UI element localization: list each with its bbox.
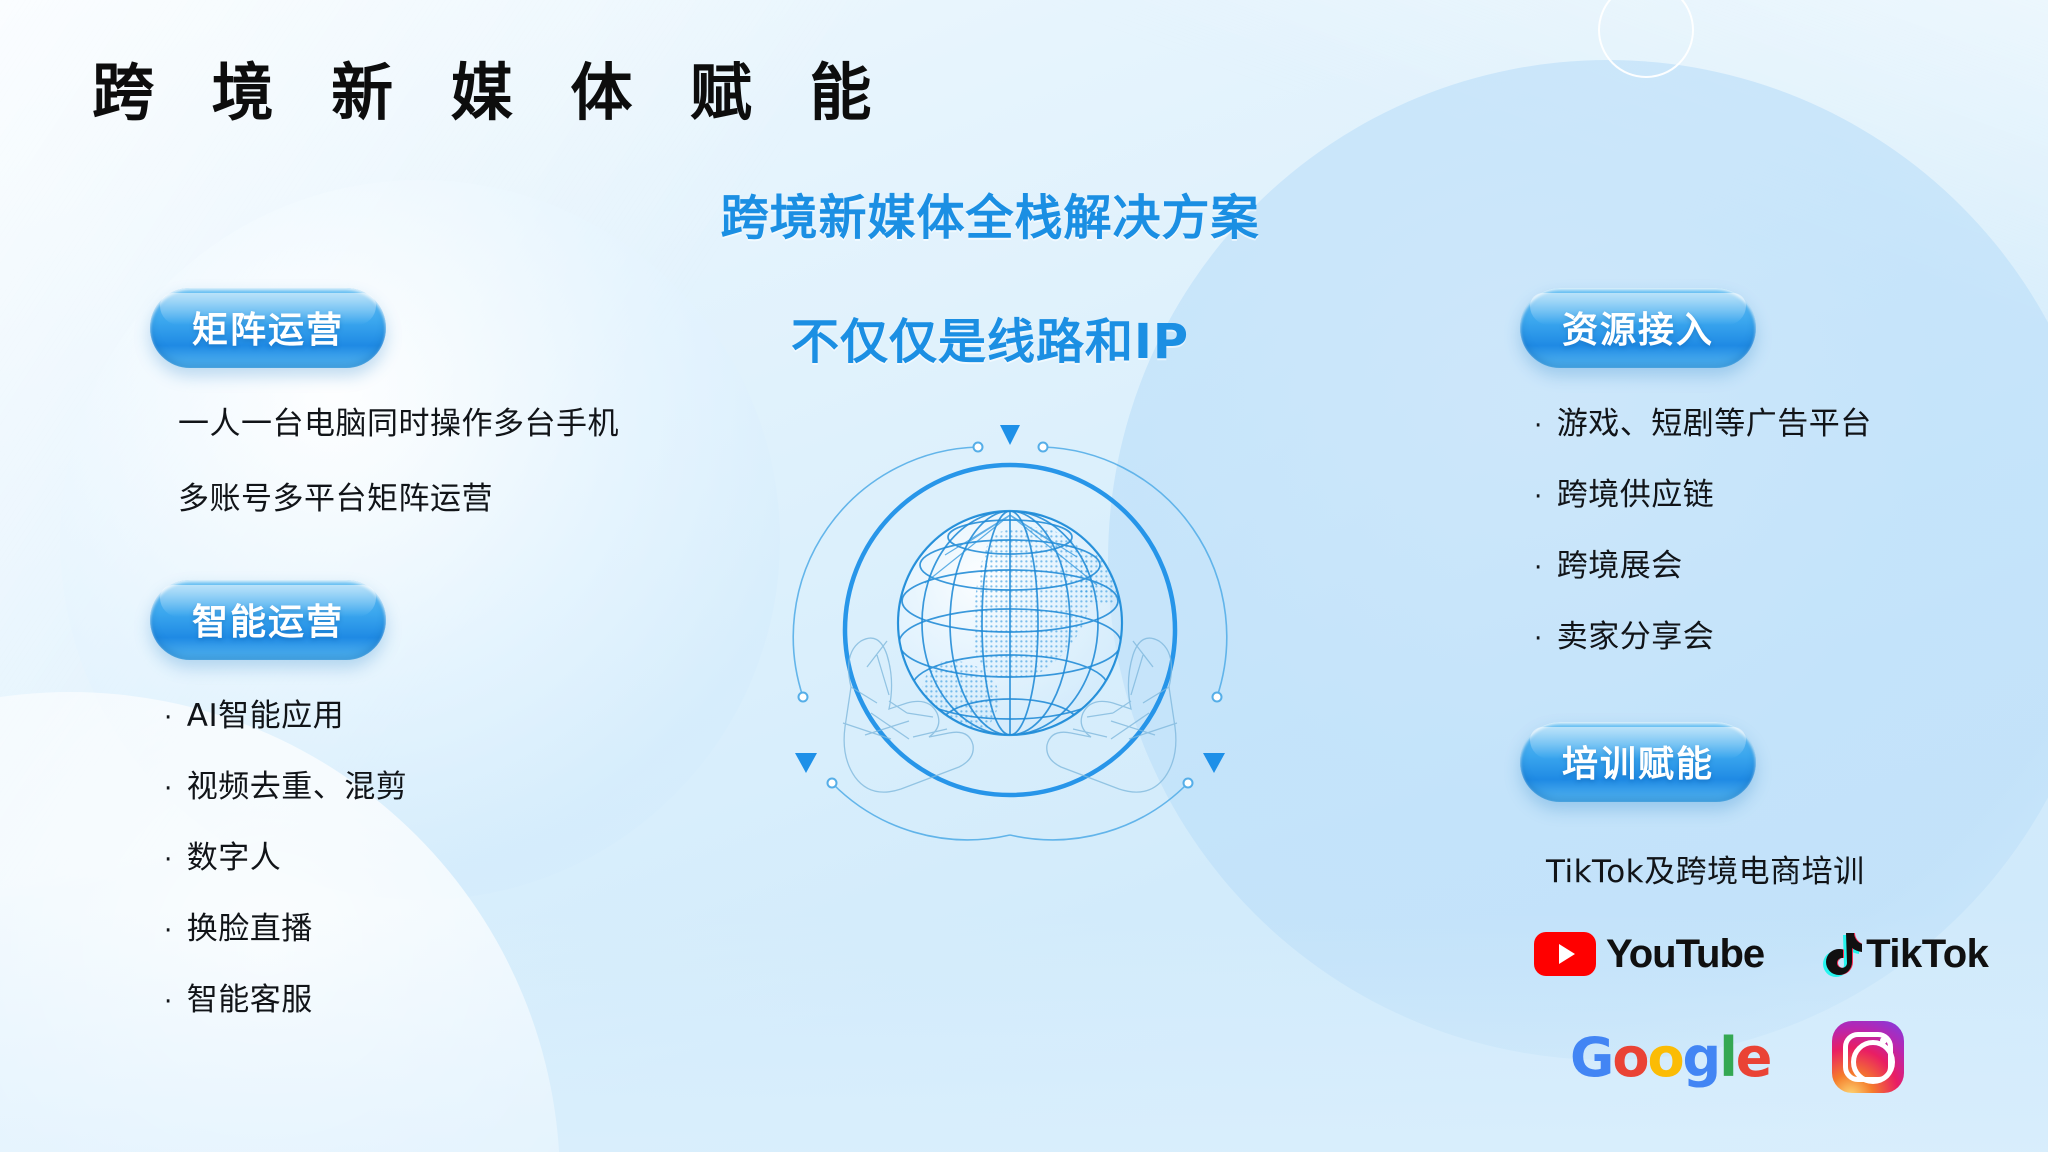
list-item-label: 智能客服	[187, 974, 313, 1019]
tiktok-logo[interactable]: TikTok	[1820, 931, 1988, 977]
badge-smart-operations[interactable]: 智能运营	[150, 580, 386, 660]
bullet-dot-icon: ·	[1534, 413, 1543, 439]
globe-svg	[785, 405, 1235, 855]
list-item-label: 视频去重、混剪	[187, 761, 408, 806]
center-headline-group: 跨境新媒体全栈解决方案 不仅仅是线路和IP	[640, 178, 1340, 372]
spacer	[1520, 682, 2020, 722]
globe-in-hands-illustration	[785, 405, 1235, 855]
youtube-logo[interactable]: YouTube	[1534, 932, 1764, 977]
google-logo[interactable]: Google	[1570, 1026, 1770, 1089]
bullet-dot-icon: ·	[1534, 555, 1543, 581]
headline-primary: 跨境新媒体全栈解决方案	[640, 178, 1340, 248]
google-letter-o2: o	[1647, 1026, 1682, 1089]
tiktok-note-icon	[1820, 931, 1862, 977]
list-item: · 数字人	[164, 832, 710, 877]
list-item-label: 跨境供应链	[1557, 469, 1715, 514]
google-letter-o1: o	[1612, 1026, 1647, 1089]
badge-resource-access[interactable]: 资源接入	[1520, 288, 1756, 368]
right-column: 资源接入 · 游戏、短剧等广告平台 · 跨境供应链 · 跨境展会 · 卖家分享会…	[1520, 288, 2020, 1093]
list-item: · 视频去重、混剪	[164, 761, 710, 806]
bullet-dot-icon: ·	[164, 776, 173, 802]
page-title: 跨 境 新 媒 体 赋 能	[92, 42, 890, 132]
bullet-dot-icon: ·	[164, 918, 173, 944]
bullet-dot-icon: ·	[164, 705, 173, 731]
badge-matrix-operations[interactable]: 矩阵运营	[150, 288, 386, 368]
spacer	[150, 518, 710, 580]
bullet-dot-icon: ·	[164, 989, 173, 1015]
google-letter-g2: g	[1683, 1026, 1720, 1089]
list-item-label: 卖家分享会	[1557, 611, 1715, 656]
list-item-label: AI智能应用	[187, 690, 344, 735]
bullet-dot-icon: ·	[164, 847, 173, 873]
right-bullet-list: · 游戏、短剧等广告平台 · 跨境供应链 · 跨境展会 · 卖家分享会	[1534, 398, 2020, 656]
training-description: TikTok及跨境电商培训	[1546, 846, 2020, 891]
list-item: · 跨境供应链	[1534, 469, 2020, 514]
youtube-play-icon	[1534, 932, 1596, 976]
list-item: · 跨境展会	[1534, 540, 2020, 585]
list-item: · 智能客服	[164, 974, 710, 1019]
google-letter-e: e	[1736, 1026, 1771, 1089]
left-column: 矩阵运营 一人一台电脑同时操作多台手机 多账号多平台矩阵运营 智能运营 · AI…	[150, 288, 710, 1045]
badge-training-empowerment[interactable]: 培训赋能	[1520, 722, 1756, 802]
list-item: · 卖家分享会	[1534, 611, 2020, 656]
list-item-label: 跨境展会	[1557, 540, 1683, 585]
list-item: · 换脸直播	[164, 903, 710, 948]
instagram-logo[interactable]	[1832, 1021, 1904, 1093]
list-item: · 游戏、短剧等广告平台	[1534, 398, 2020, 443]
list-item: · AI智能应用	[164, 690, 710, 735]
tiktok-wordmark: TikTok	[1866, 932, 1988, 977]
logo-row-bottom: Google	[1570, 1021, 2020, 1093]
google-letter-l: l	[1719, 1026, 1736, 1089]
left-line-2: 多账号多平台矩阵运营	[178, 473, 710, 518]
left-bullet-list: · AI智能应用 · 视频去重、混剪 · 数字人 · 换脸直播 · 智能客服	[164, 690, 710, 1019]
list-item-label: 游戏、短剧等广告平台	[1557, 398, 1872, 443]
google-letter-g1: G	[1570, 1026, 1612, 1089]
bullet-dot-icon: ·	[1534, 484, 1543, 510]
list-item-label: 换脸直播	[187, 903, 313, 948]
headline-secondary: 不仅仅是线路和IP	[640, 302, 1340, 372]
left-line-1: 一人一台电脑同时操作多台手机	[178, 398, 710, 443]
logo-row-top: YouTube TikTok	[1534, 931, 2020, 977]
slide-root: 跨 境 新 媒 体 赋 能 跨境新媒体全栈解决方案 不仅仅是线路和IP	[0, 0, 2048, 1152]
list-item-label: 数字人	[187, 832, 282, 877]
youtube-wordmark: YouTube	[1606, 932, 1764, 977]
bullet-dot-icon: ·	[1534, 626, 1543, 652]
